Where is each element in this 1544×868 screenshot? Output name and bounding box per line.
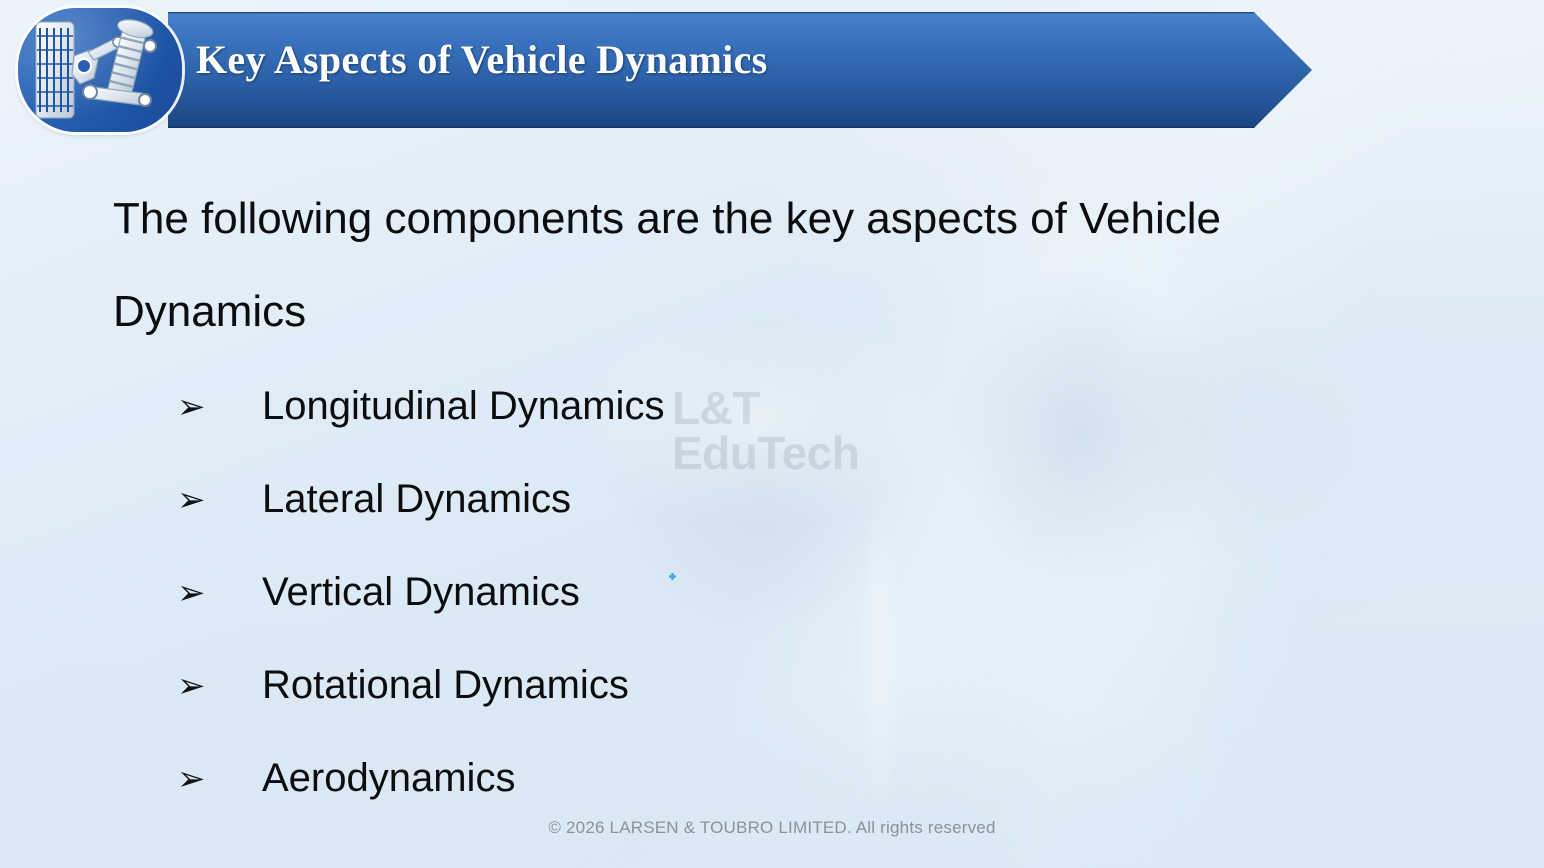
logo-tab <box>18 8 182 132</box>
arrow-bullet-icon: ➢ <box>175 483 262 517</box>
list-item-label: Lateral Dynamics <box>262 477 571 522</box>
list-item: ➢ Longitudinal Dynamics <box>175 360 1075 453</box>
arrow-bullet-icon: ➢ <box>175 669 262 703</box>
list-item-label: Aerodynamics <box>262 756 515 801</box>
list-item: ➢ Lateral Dynamics <box>175 453 1075 546</box>
slide-header: Key Aspects of Vehicle Dynamics <box>0 0 1360 142</box>
list-item: ➢ Aerodynamics <box>175 732 1075 825</box>
suspension-strut-icon <box>28 16 172 129</box>
intro-paragraph: The following components are the key asp… <box>113 172 1313 358</box>
presentation-slide: L&T EduTech <box>0 0 1544 868</box>
copyright-footer: © 2026 LARSEN & TOUBRO LIMITED. All righ… <box>0 818 1544 838</box>
list-item-label: Longitudinal Dynamics <box>262 384 664 429</box>
list-item: ➢ Vertical Dynamics <box>175 546 1075 639</box>
arrow-bullet-icon: ➢ <box>175 762 262 796</box>
list-item: ➢ Rotational Dynamics <box>175 639 1075 732</box>
list-item-label: Vertical Dynamics <box>262 570 580 615</box>
key-aspects-list: ➢ Longitudinal Dynamics ➢ Lateral Dynami… <box>175 360 1075 825</box>
arrow-bullet-icon: ➢ <box>175 576 262 610</box>
list-item-label: Rotational Dynamics <box>262 663 629 708</box>
arrow-bullet-icon: ➢ <box>175 390 262 424</box>
page-title: Key Aspects of Vehicle Dynamics <box>196 36 768 83</box>
